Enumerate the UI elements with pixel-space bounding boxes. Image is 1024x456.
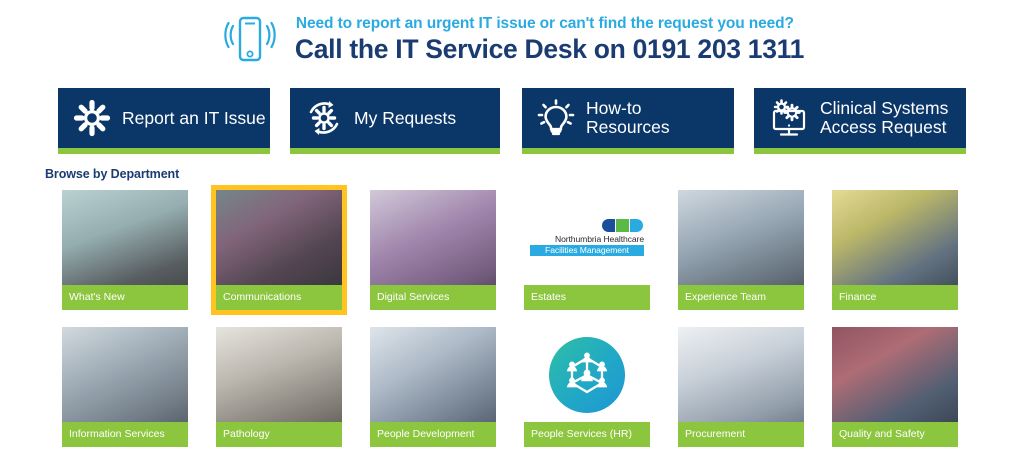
tile-label: Quality and Safety (832, 422, 958, 447)
logo-line-2: Facilities Management (530, 245, 644, 257)
tile-label: Communications (216, 285, 342, 310)
department-tile-whats-new[interactable]: What's New (62, 190, 188, 310)
northumbria-facilities-management-logo: Northumbria Healthcare Facilities Manage… (524, 190, 650, 285)
department-tile-pathology[interactable]: Pathology (216, 327, 342, 447)
tile-label: Information Services (62, 422, 188, 447)
people-network-icon (524, 327, 650, 422)
department-tile-experience-team[interactable]: Experience Team (678, 190, 804, 310)
tile-label: Digital Services (370, 285, 496, 310)
tile-label: People Development (370, 422, 496, 447)
department-tile-grid: What's New Communications Digital Servic… (0, 0, 1024, 456)
tile-label: Finance (832, 285, 958, 310)
department-tile-estates[interactable]: Northumbria Healthcare Facilities Manage… (524, 190, 650, 310)
logo-dots (530, 219, 643, 232)
department-tile-information-services[interactable]: Information Services (62, 327, 188, 447)
department-tile-finance[interactable]: Finance (832, 190, 958, 310)
tile-label: What's New (62, 285, 188, 310)
logo-line-1: Northumbria Healthcare (530, 234, 644, 245)
department-tile-communications[interactable]: Communications (216, 190, 342, 310)
tile-label: Pathology (216, 422, 342, 447)
department-tile-digital-services[interactable]: Digital Services (370, 190, 496, 310)
tile-label: Experience Team (678, 285, 804, 310)
department-tile-procurement[interactable]: Procurement (678, 327, 804, 447)
tile-label: People Services (HR) (524, 422, 650, 447)
tile-label: Estates (524, 285, 650, 310)
department-tile-quality-and-safety[interactable]: Quality and Safety (832, 327, 958, 447)
tile-label: Procurement (678, 422, 804, 447)
department-tile-people-development[interactable]: People Development (370, 327, 496, 447)
department-tile-people-services-hr[interactable]: People Services (HR) (524, 327, 650, 447)
